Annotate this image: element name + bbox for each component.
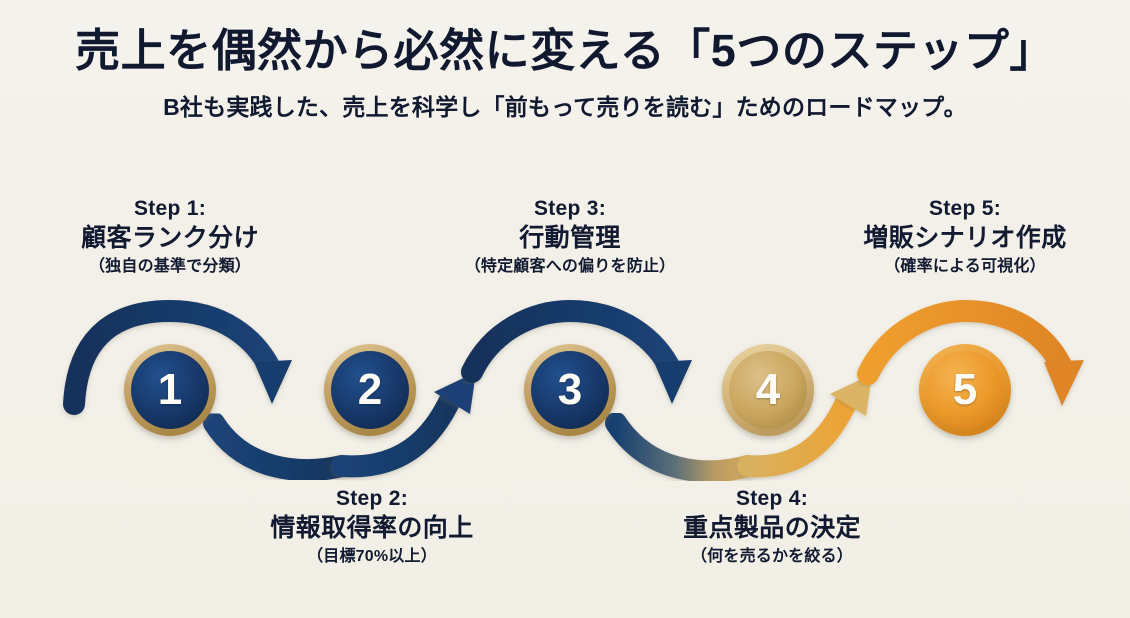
step-4-number-label: Step 4: bbox=[632, 486, 912, 512]
step-2-number-label: Step 2: bbox=[232, 486, 512, 512]
step-1-note: （独自の基準で分類） bbox=[30, 256, 310, 278]
step-3-note: （特定顧客への偏りを防止） bbox=[430, 256, 710, 278]
step-circle-2[interactable] bbox=[324, 344, 416, 436]
step-1-title: 顧客ランク分け bbox=[30, 222, 310, 255]
step-label-1: Step 1: 顧客ランク分け （独自の基準で分類） bbox=[30, 196, 310, 278]
step-flow-diagram bbox=[0, 0, 1130, 618]
ribbon-segment-2 bbox=[214, 423, 342, 470]
step-1-number-label: Step 1: bbox=[30, 196, 310, 222]
step-2-note: （目標70%以上） bbox=[232, 546, 512, 568]
step-4-note: （何を売るかを絞る） bbox=[632, 546, 912, 568]
ribbon-segment-5 bbox=[616, 423, 748, 471]
step-circle-3[interactable] bbox=[524, 344, 616, 436]
step-3-title: 行動管理 bbox=[430, 222, 710, 255]
step-3-number-label: Step 3: bbox=[430, 196, 710, 222]
step-circle-4[interactable] bbox=[722, 344, 814, 436]
step-circle-1[interactable] bbox=[124, 344, 216, 436]
step-4-title: 重点製品の決定 bbox=[632, 512, 912, 545]
step-label-3: Step 3: 行動管理 （特定顧客への偏りを防止） bbox=[430, 196, 710, 278]
step-5-title: 増販シナリオ作成 bbox=[825, 222, 1105, 255]
step-2-title: 情報取得率の向上 bbox=[232, 512, 512, 545]
step-5-note: （確率による可視化） bbox=[825, 256, 1105, 278]
step-label-4: Step 4: 重点製品の決定 （何を売るかを絞る） bbox=[632, 486, 912, 568]
step-circle-5[interactable] bbox=[919, 344, 1011, 436]
step-label-2: Step 2: 情報取得率の向上 （目標70%以上） bbox=[232, 486, 512, 568]
step-5-number-label: Step 5: bbox=[825, 196, 1105, 222]
infographic-canvas: 売上を偶然から必然に変える「5つのステップ」 B社も実践した、売上を科学し「前も… bbox=[0, 0, 1130, 618]
step-label-5: Step 5: 増販シナリオ作成 （確率による可視化） bbox=[825, 196, 1105, 278]
